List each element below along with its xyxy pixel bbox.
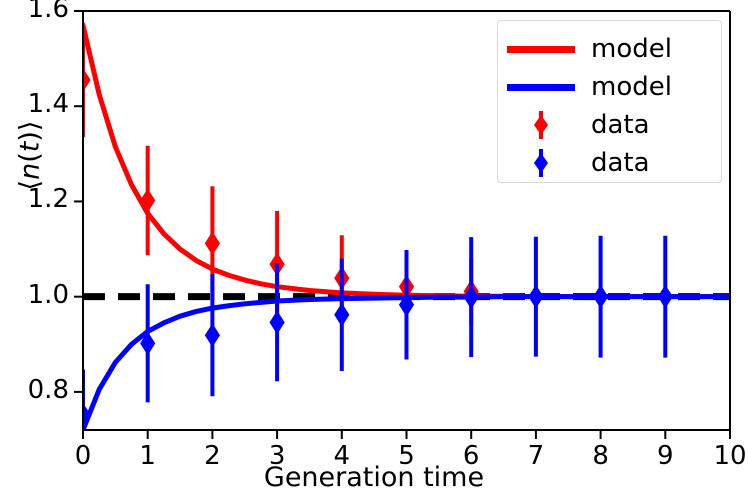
y-axis-label-text: ⟨n(t)⟩ <box>15 121 46 191</box>
x-tick-label: 2 <box>187 441 237 471</box>
y-tick-label: 0.8 <box>11 375 69 405</box>
legend: modelmodeldatadata <box>497 20 722 183</box>
y-tick-label: 1.0 <box>11 280 69 310</box>
legend-entry-2[interactable]: data <box>507 106 650 144</box>
x-tick-label: 1 <box>123 441 173 471</box>
legend-label: model <box>591 34 672 64</box>
data-marker-blue <box>335 304 349 326</box>
y-tick-label: 1.4 <box>11 89 69 119</box>
x-tick-label: 5 <box>382 441 432 471</box>
y-tick-label: 1.6 <box>11 0 69 24</box>
data-marker-blue <box>529 286 543 308</box>
x-tick-label: 8 <box>576 441 626 471</box>
x-axis-label: Generation time <box>0 462 748 493</box>
legend-line-swatch <box>507 46 575 53</box>
data-marker-blue <box>594 286 608 308</box>
data-marker-blue <box>205 324 219 346</box>
data-marker-blue <box>658 286 672 308</box>
data-marker-blue <box>270 311 284 333</box>
x-tick-label: 3 <box>252 441 302 471</box>
y-tick-label: 1.2 <box>11 184 69 214</box>
x-tick-label: 0 <box>58 441 108 471</box>
legend-entry-1[interactable]: model <box>507 68 672 106</box>
legend-label: data <box>591 148 650 178</box>
figure: ⟨n(t)⟩ Generation time modelmodeldatadat… <box>0 0 748 495</box>
x-tick-label: 9 <box>640 441 690 471</box>
legend-marker-swatch <box>507 108 575 142</box>
legend-line-swatch <box>507 84 575 91</box>
data-series-blue <box>76 236 672 460</box>
legend-entry-3[interactable]: data <box>507 144 650 182</box>
legend-entry-0[interactable]: model <box>507 30 672 68</box>
legend-label: model <box>591 72 672 102</box>
legend-label: data <box>591 110 650 140</box>
data-marker-red <box>205 232 219 254</box>
x-tick-label: 7 <box>511 441 561 471</box>
legend-marker-swatch <box>507 146 575 180</box>
x-tick-label: 10 <box>705 441 748 471</box>
x-tick-label: 6 <box>446 441 496 471</box>
x-tick-label: 4 <box>317 441 367 471</box>
